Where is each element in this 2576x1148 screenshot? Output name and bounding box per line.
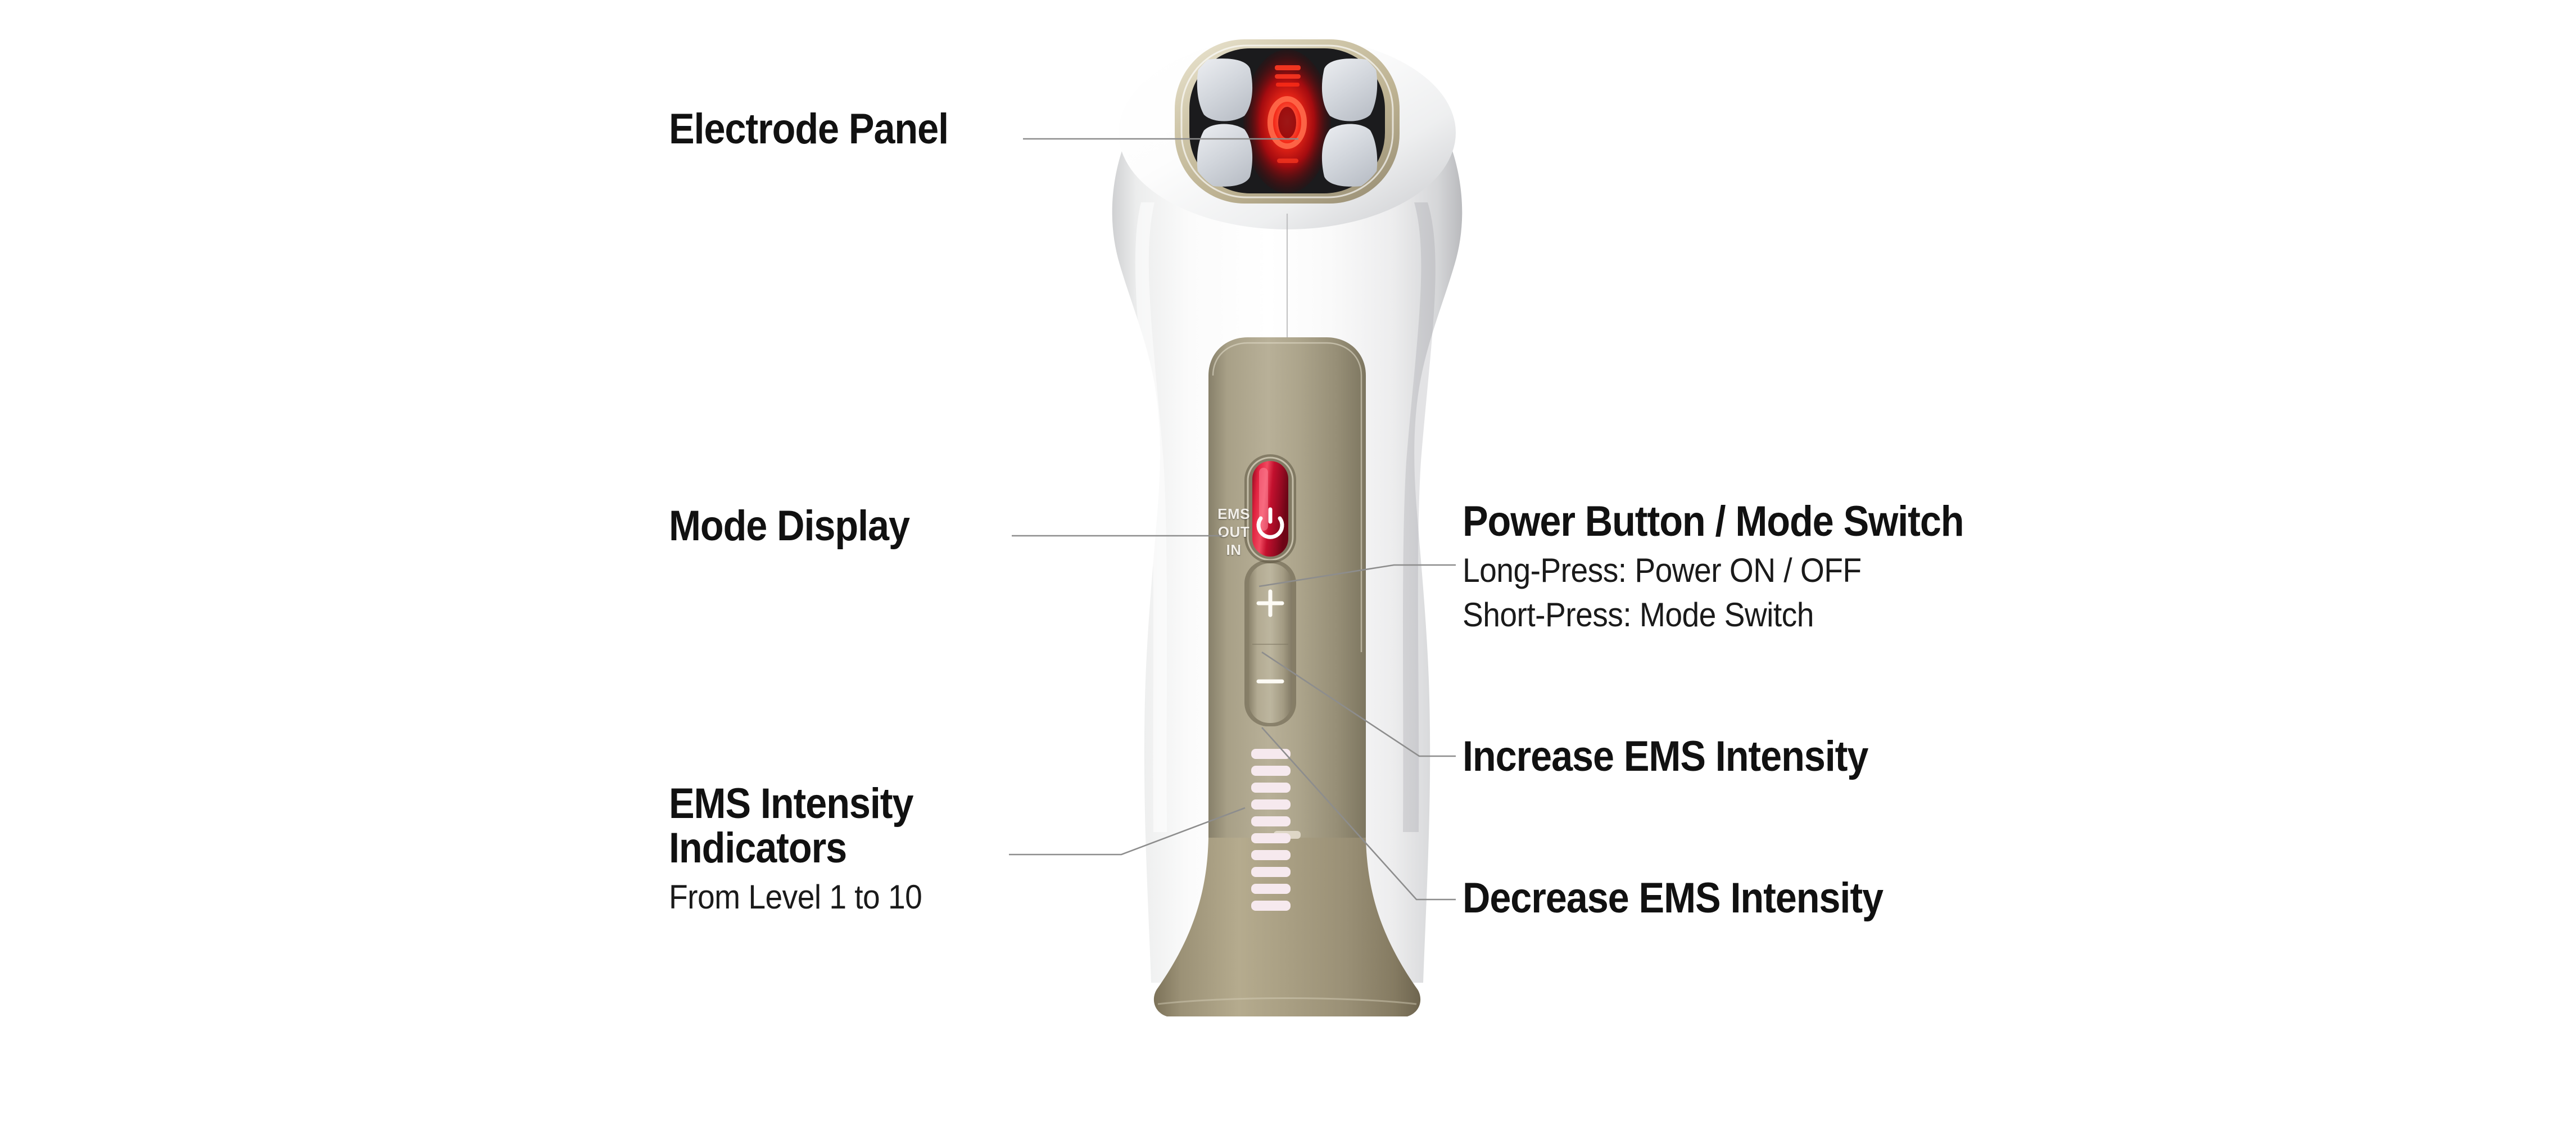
- indicator-bar: [1251, 766, 1291, 776]
- indicator-bar: [1251, 799, 1291, 810]
- led-bar: [1277, 159, 1298, 163]
- device-illustration: [1057, 34, 1518, 1108]
- electrode-pad: [1197, 124, 1252, 186]
- indicator-bar: [1251, 850, 1291, 860]
- led-bar: [1275, 74, 1301, 79]
- indicator-bar: [1251, 816, 1291, 826]
- indicator-bar: [1251, 867, 1291, 877]
- callout-electrode-panel: Electrode Panel: [669, 107, 979, 151]
- callout-decrease-intensity: Decrease EMS Intensity: [1463, 876, 1930, 920]
- indicator-bar: [1251, 783, 1291, 793]
- indicator-bar: [1251, 901, 1291, 911]
- indicator-bar: [1251, 884, 1291, 894]
- callout-electrode-panel-title: Electrode Panel: [669, 107, 948, 151]
- callout-mode-display: Mode Display: [669, 504, 936, 548]
- electrode-pad: [1197, 58, 1252, 121]
- indicator-bar: [1251, 749, 1291, 759]
- callout-power-button: Power Button / Mode Switch Long-Press: P…: [1463, 499, 2020, 637]
- led-core: [1278, 107, 1296, 138]
- callout-decrease-intensity-title: Decrease EMS Intensity: [1463, 876, 1883, 920]
- callout-power-button-subtitle: Long-Press: Power ON / OFF Short-Press: …: [1463, 548, 1975, 637]
- callout-ems-intensity-title: EMS Intensity Indicators: [669, 781, 917, 870]
- indicator-bar: [1251, 833, 1291, 843]
- led-bar: [1276, 83, 1300, 87]
- callout-power-button-title: Power Button / Mode Switch: [1463, 499, 1964, 544]
- led-bar: [1275, 65, 1301, 70]
- electrode-pad: [1322, 124, 1377, 186]
- electrode-pad: [1322, 58, 1377, 121]
- callout-increase-intensity-title: Increase EMS Intensity: [1463, 734, 1868, 779]
- callout-ems-intensity-indicators: EMS Intensity Indicators From Level 1 to…: [669, 781, 944, 919]
- product-annotation-diagram: EMS OUT IN Electrode Panel Mode Display …: [0, 0, 2576, 1148]
- callout-mode-display-title: Mode Display: [669, 504, 909, 548]
- rocker-key: [1249, 563, 1292, 723]
- callout-increase-intensity: Increase EMS Intensity: [1463, 734, 1913, 779]
- callout-ems-intensity-subtitle: From Level 1 to 10: [669, 875, 922, 919]
